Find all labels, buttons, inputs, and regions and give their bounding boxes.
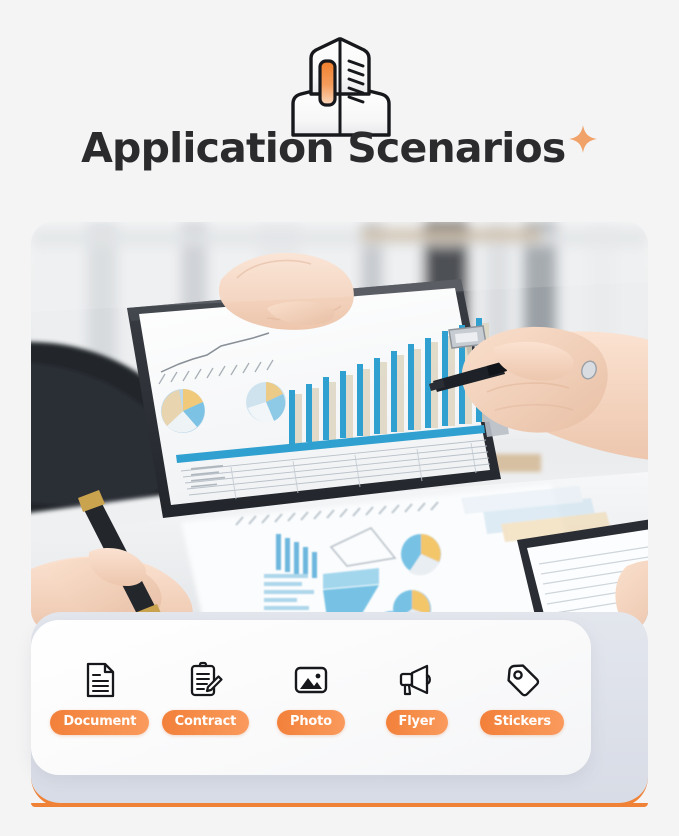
page-title-row: Application Scenarios: [0, 128, 679, 169]
scenario-photo-illustration: [31, 222, 648, 632]
megaphone-icon: [397, 660, 437, 700]
tile-label-contract[interactable]: Contract: [162, 710, 249, 735]
tile-label-flyer[interactable]: Flyer: [386, 710, 448, 735]
document-icon: [80, 660, 120, 700]
clipboard-pen-icon: [185, 660, 225, 700]
tile-contract[interactable]: Contract: [153, 660, 257, 735]
tile-label-stickers[interactable]: Stickers: [480, 710, 563, 735]
scenario-photo: [31, 222, 648, 632]
image-icon: [291, 660, 331, 700]
sparkle-icon: [568, 124, 598, 154]
price-tag-icon: [502, 660, 542, 700]
tile-photo[interactable]: Photo: [259, 660, 363, 735]
tile-label-photo[interactable]: Photo: [277, 710, 345, 735]
building-icon: [285, 36, 397, 138]
tile-label-document[interactable]: Document: [50, 710, 149, 735]
scenario-tiles: Document Contract Photo: [31, 620, 591, 775]
header: Application Scenarios: [0, 0, 679, 208]
tile-stickers[interactable]: Stickers: [470, 660, 574, 735]
page-title: Application Scenarios: [81, 128, 565, 169]
tile-flyer[interactable]: Flyer: [365, 660, 469, 735]
tile-document[interactable]: Document: [48, 660, 152, 735]
